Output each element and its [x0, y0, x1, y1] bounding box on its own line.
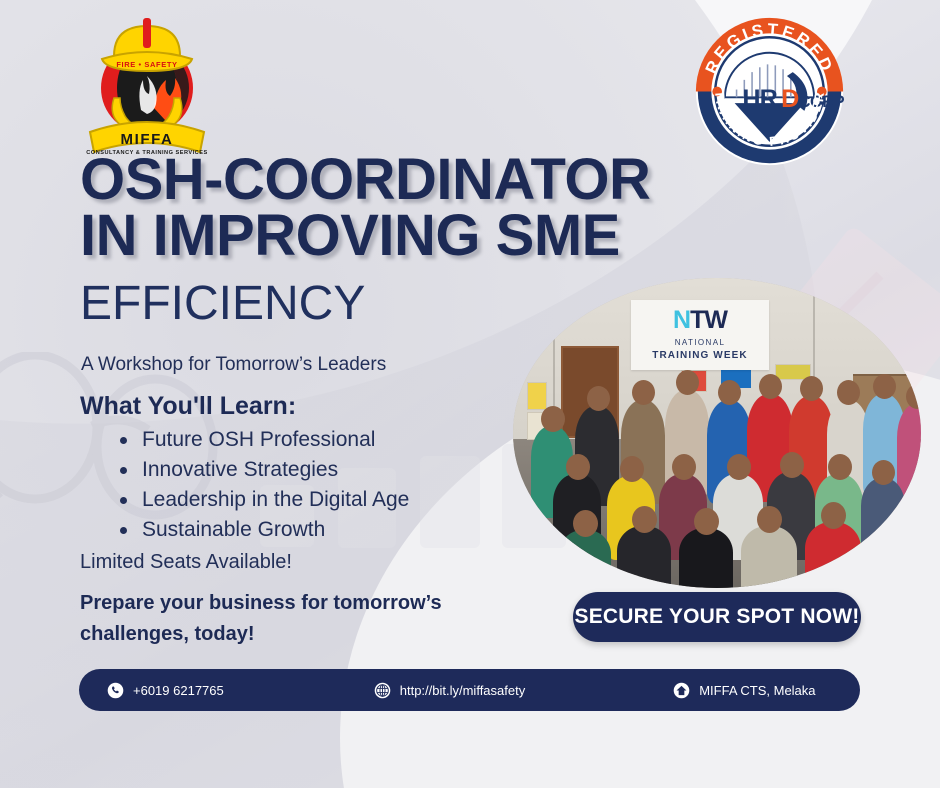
photo-person-head — [757, 506, 782, 533]
photo-person-head — [676, 370, 699, 395]
svg-text:HR: HR — [742, 85, 777, 113]
what-you-learn-heading: What You'll Learn: — [80, 392, 296, 421]
svg-text:D: D — [781, 85, 799, 113]
photo-person — [741, 526, 797, 588]
photo-person-head — [837, 380, 860, 405]
photo-person — [559, 530, 611, 588]
photo-person-head — [587, 386, 610, 411]
ntw-logo-tw: TW — [690, 306, 727, 334]
photo-person-head — [759, 374, 782, 399]
photo-person-head — [873, 374, 896, 399]
miffa-logo-name: MIFFA — [121, 131, 174, 148]
photo-person — [805, 522, 861, 588]
headline-line-2: IN IMPROVING SME — [80, 208, 780, 264]
location-home-icon — [673, 682, 690, 699]
phone-icon — [107, 682, 124, 699]
photo-person-head — [672, 454, 696, 480]
poster-canvas: FIRE • SAFETY MIFFA CONSULTANCY & TRAINI… — [0, 0, 940, 788]
photo-person — [617, 526, 671, 588]
prepare-business-text: Prepare your business for tomorrow’s cha… — [80, 588, 500, 650]
list-item: Future OSH Professional — [120, 425, 409, 455]
contact-phone-text: +6019 6217765 — [133, 683, 224, 698]
secure-spot-button[interactable]: SECURE YOUR SPOT NOW! — [573, 592, 861, 642]
contact-address-text: MIFFA CTS, Melaka — [699, 683, 815, 698]
photo-wall-poster — [527, 382, 547, 410]
photo-person-head — [718, 380, 741, 405]
globe-icon — [374, 682, 391, 699]
list-item: Innovative Strategies — [120, 455, 409, 485]
hrdcorp-registered-badge: HR D CORP REGISTERED TRAINING PROVIDER — [692, 14, 847, 169]
photo-person-head — [872, 460, 895, 485]
miffa-logo: FIRE • SAFETY MIFFA CONSULTANCY & TRAINI… — [84, 12, 210, 156]
photo-person-head — [541, 406, 565, 432]
photo-person-head — [800, 376, 823, 401]
photo-person-head — [727, 454, 751, 480]
participants-photo: NTW NATIONAL TRAINING WEEK — [513, 278, 921, 588]
contact-address[interactable]: MIFFA CTS, Melaka — [673, 682, 815, 699]
contact-website[interactable]: http://bit.ly/miffasafety — [374, 682, 525, 699]
workshop-tagline: A Workshop for Tomorrow’s Leaders — [81, 354, 386, 376]
ntw-logo-text: NTW — [631, 308, 769, 333]
svg-text:FIRE • SAFETY: FIRE • SAFETY — [116, 60, 177, 69]
photo-person-head — [566, 454, 590, 480]
headline-line-1: OSH-COORDINATOR — [80, 152, 780, 208]
ntw-banner: NTW NATIONAL TRAINING WEEK — [631, 300, 769, 370]
contact-bar: +6019 6217765 http://bit.ly/miffasafety — [79, 669, 860, 711]
ntw-logo-n: N — [673, 306, 690, 334]
contact-website-text: http://bit.ly/miffasafety — [400, 683, 525, 698]
photo-person-head — [632, 380, 655, 405]
ntw-subtitle-training-week: TRAINING WEEK — [631, 350, 769, 361]
ntw-subtitle-national: NATIONAL — [631, 338, 769, 347]
list-item: Sustainable Growth — [120, 515, 409, 545]
photo-person-head — [573, 510, 598, 537]
photo-person-head — [632, 506, 657, 533]
limited-seats-text: Limited Seats Available! — [80, 551, 292, 574]
photo-person — [679, 528, 733, 588]
learning-outcomes-list: Future OSH Professional Innovative Strat… — [92, 425, 409, 545]
photo-person-head — [828, 454, 852, 480]
list-item: Leadership in the Digital Age — [120, 485, 409, 515]
contact-phone[interactable]: +6019 6217765 — [107, 682, 224, 699]
photo-person-head — [620, 456, 644, 482]
photo-person — [861, 478, 905, 560]
photo-person-head — [780, 452, 804, 478]
photo-person-head — [821, 502, 846, 529]
photo-person-head — [694, 508, 719, 535]
